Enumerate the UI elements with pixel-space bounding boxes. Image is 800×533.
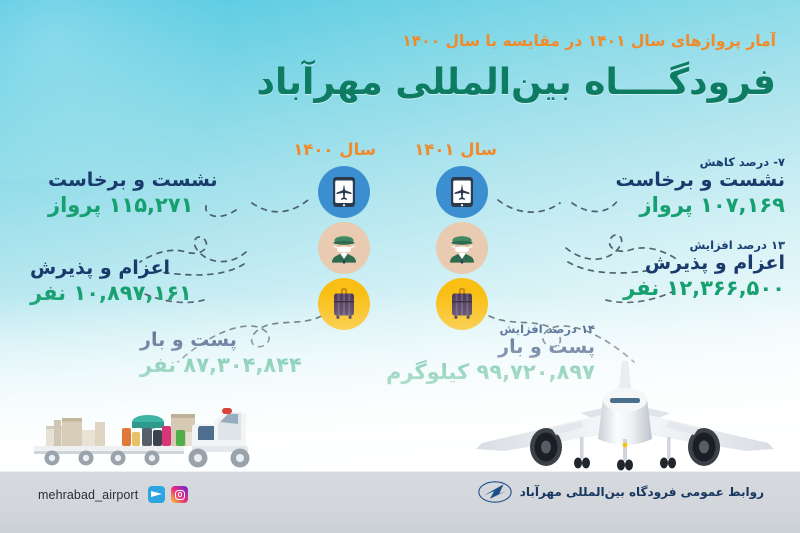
- flight-phone-icon: [318, 166, 370, 218]
- stat-1401-passengers: ۱۳ درصد افزایش اعزام و پذیرش ۱۲,۳۶۶,۵۰۰ …: [623, 238, 785, 301]
- stat-value: ۱۲,۳۶۶,۵۰۰ نفر: [623, 276, 785, 301]
- stat-1401-takeoff-landing: ۷- درصد کاهش نشست و برخاست ۱۰۷,۱۶۹ پرواز: [615, 155, 785, 218]
- stat-change: ۷- درصد کاهش: [615, 155, 785, 169]
- stat-label: اعزام و پذیرش: [30, 258, 192, 280]
- top-left-glow: [0, 0, 260, 180]
- stat-change: ۱۴ درصد افزایش: [386, 322, 595, 336]
- flight-phone-icon: [436, 166, 488, 218]
- stat-label: اعزام و پذیرش: [623, 253, 785, 275]
- instagram-icon[interactable]: [171, 486, 188, 503]
- suitcase-icon: [318, 278, 370, 330]
- stat-value: ۱۰,۸۹۷,۱۶۱ نفر: [30, 281, 192, 306]
- stat-change: ۱۳ درصد افزایش: [623, 238, 785, 252]
- year-label-1401: سال ۱۴۰۱: [414, 140, 497, 159]
- icon-column-1401: [436, 166, 488, 334]
- page-title: فرودگــــاه بین‌المللی مهرآباد: [256, 62, 776, 103]
- page-subtitle: آمار پروازهای سال ۱۴۰۱ در مقایسه با سال …: [402, 32, 776, 50]
- public-relations-text: روابط عمومی فرودگاه بین‌المللی مهرآباد: [520, 485, 764, 499]
- infographic-poster: آمار پروازهای سال ۱۴۰۱ در مقایسه با سال …: [0, 0, 800, 533]
- airplane-illustration: [460, 355, 790, 485]
- stat-label: نشست و برخاست: [48, 170, 218, 192]
- mehrabad-airport-logo-icon: [478, 479, 512, 505]
- stat-label: پست و بار: [140, 330, 302, 352]
- social-links[interactable]: mehrabad_airport: [38, 486, 188, 503]
- year-label-1400: سال ۱۴۰۰: [293, 140, 376, 159]
- masked-passenger-icon: [436, 222, 488, 274]
- social-handle: mehrabad_airport: [38, 488, 138, 502]
- stat-1400-passengers: اعزام و پذیرش ۱۰,۸۹۷,۱۶۱ نفر: [30, 258, 192, 306]
- icon-column-1400: [318, 166, 370, 334]
- masked-passenger-icon: [318, 222, 370, 274]
- stat-label: نشست و برخاست: [615, 170, 785, 192]
- stat-value: ۱۱۵,۲۷۱ پرواز: [48, 193, 218, 218]
- stat-1400-mail-cargo: پست و بار ۸۷,۳۰۴,۸۴۴ نفر: [140, 330, 302, 378]
- stat-value: ۸۷,۳۰۴,۸۴۴ نفر: [140, 353, 302, 378]
- stat-value: ۱۰۷,۱۶۹ پرواز: [615, 193, 785, 218]
- telegram-icon[interactable]: [148, 486, 165, 503]
- public-relations-credit: روابط عمومی فرودگاه بین‌المللی مهرآباد: [478, 479, 764, 505]
- baggage-cart-illustration: [26, 388, 261, 478]
- stat-1400-takeoff-landing: نشست و برخاست ۱۱۵,۲۷۱ پرواز: [48, 170, 218, 218]
